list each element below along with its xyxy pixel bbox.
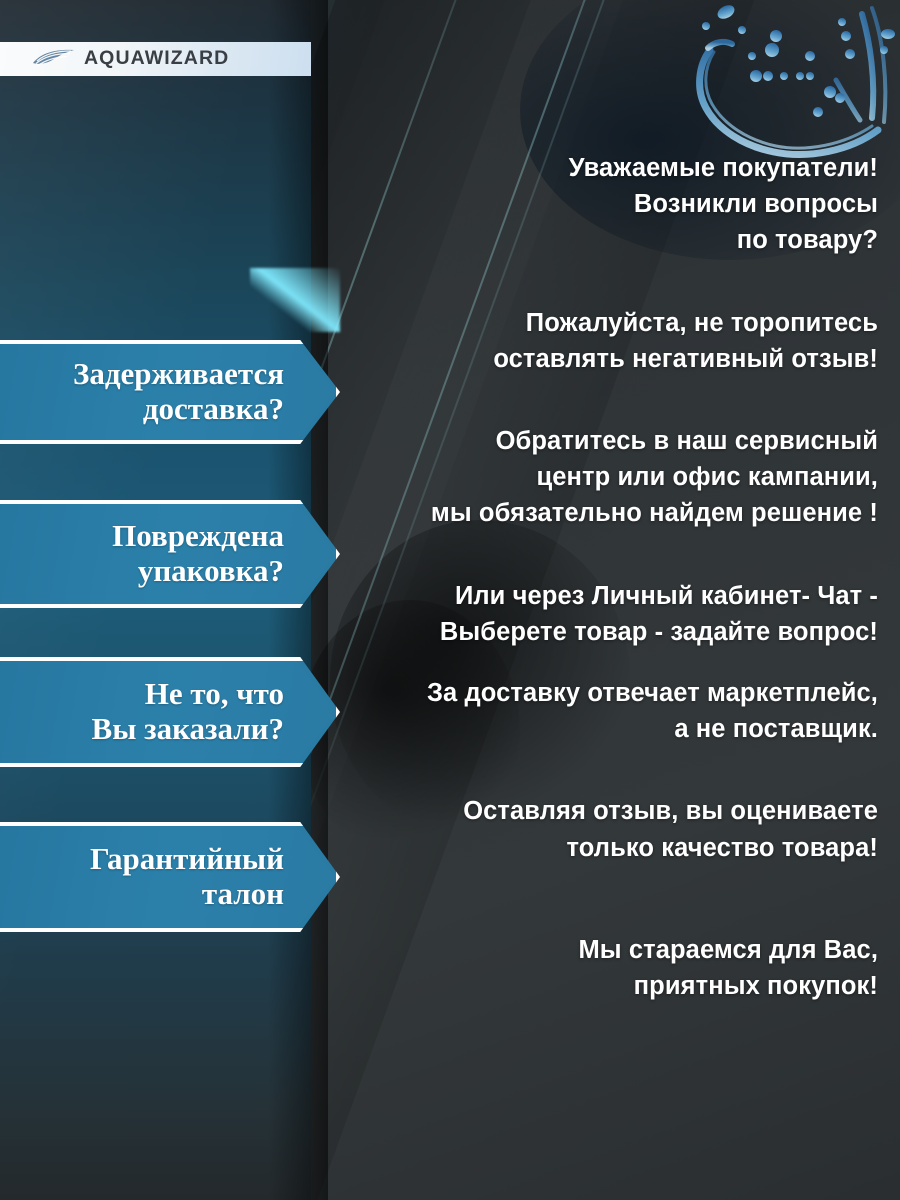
brand-logo-bar[interactable]: AQUAWIZARD bbox=[0, 42, 311, 76]
message-copy: Уважаемые покупатели! Возникли вопросы п… bbox=[318, 150, 878, 1004]
paragraph-review-quality-only: Оставляя отзыв, вы оцениваете только кач… bbox=[318, 793, 878, 865]
paragraph-marketplace-responsibility: За доставку отвечает маркетплейс, а не п… bbox=[318, 675, 878, 747]
paragraph-personal-account-chat: Или через Личный кабинет- Чат - Выберете… bbox=[318, 578, 878, 650]
banner-label: Гарантийный талон bbox=[90, 842, 284, 911]
banner-wrong-item[interactable]: Не то, что Вы заказали? bbox=[0, 657, 340, 767]
paragraph-please-wait: Пожалуйста, не торопитесь оставлять нега… bbox=[318, 305, 878, 377]
banner-label: Повреждена упаковка? bbox=[112, 519, 284, 588]
paragraph-contact-service: Обратитесь в наш сервисный центр или офи… bbox=[318, 423, 878, 532]
banner-damaged-packaging[interactable]: Повреждена упаковка? bbox=[0, 500, 340, 608]
banner-delivery-delayed[interactable]: Задерживается доставка? bbox=[0, 340, 340, 444]
water-splash-icon bbox=[640, 0, 900, 164]
water-wave-icon bbox=[32, 48, 75, 70]
brand-logo-text: AQUAWIZARD bbox=[84, 49, 229, 69]
paragraph-closing: Мы стараемся для Вас, приятных покупок! bbox=[318, 932, 878, 1004]
paragraph-greeting: Уважаемые покупатели! Возникли вопросы п… bbox=[318, 150, 878, 259]
banner-warranty-card[interactable]: Гарантийный талон bbox=[0, 822, 340, 932]
banner-label: Не то, что Вы заказали? bbox=[92, 677, 284, 746]
banner-label: Задерживается доставка? bbox=[73, 357, 284, 426]
promo-poster: AQUAWIZARD Задерживается доставка? Повре… bbox=[0, 0, 900, 1200]
